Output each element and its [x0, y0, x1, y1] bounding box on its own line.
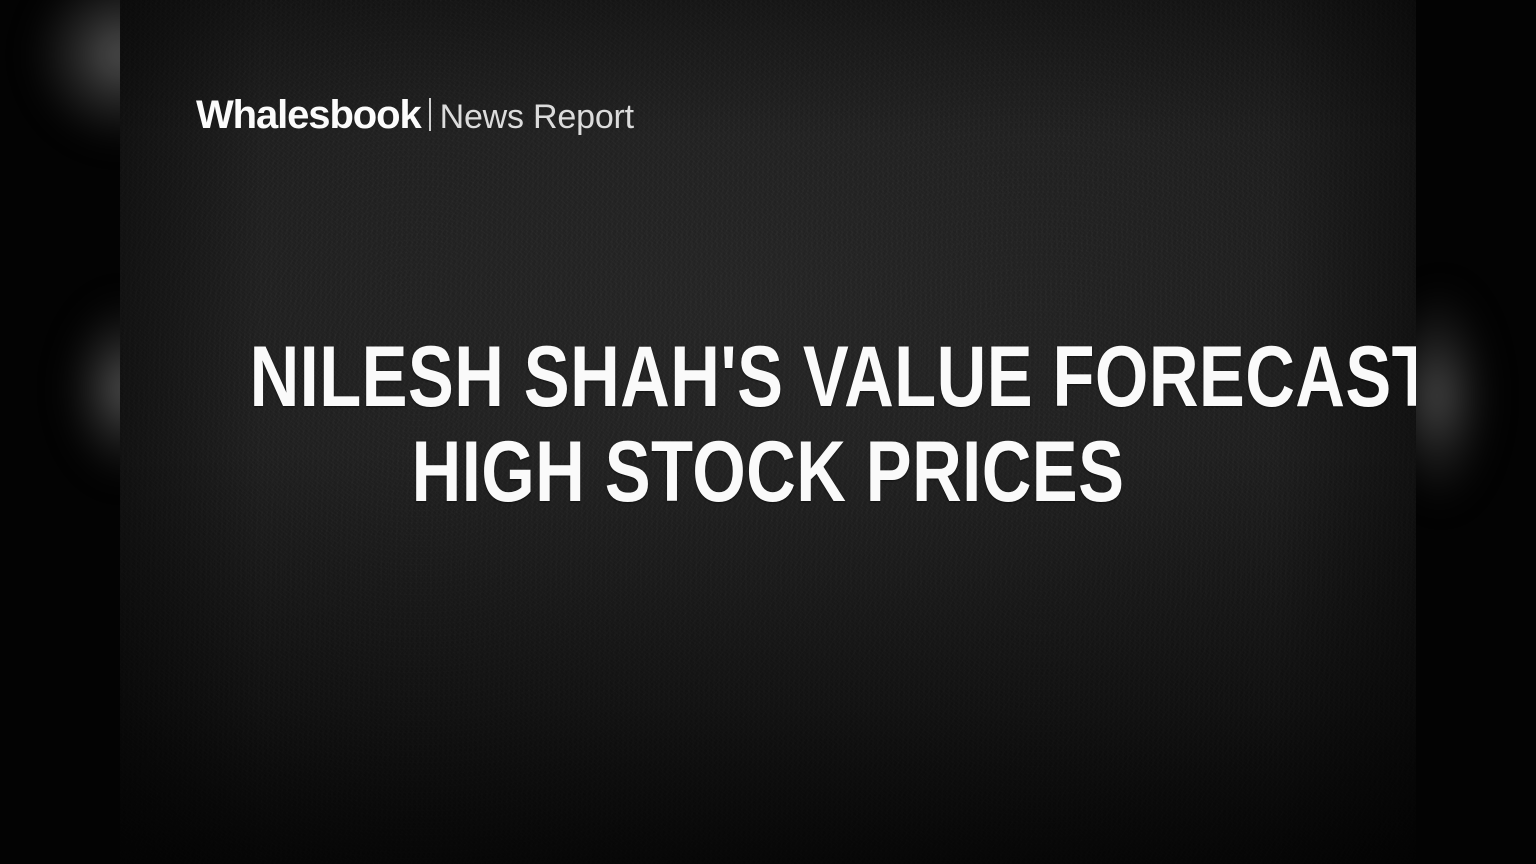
brand-masthead[interactable]: Whalesbook News Report — [196, 93, 634, 138]
headline-line-2: HIGH STOCK PRICES — [250, 425, 1287, 520]
brand-suffix-label: News Report — [440, 98, 634, 137]
brand-name: Whalesbook — [196, 93, 421, 138]
brand-divider — [429, 98, 431, 131]
headline: NILESH SHAH'S VALUE FORECAST FACES HIGH … — [120, 330, 1416, 520]
headline-line-1: NILESH SHAH'S VALUE FORECAST FACES — [250, 330, 1287, 425]
news-card-canvas: Whalesbook News Report NILESH SHAH'S VAL… — [0, 0, 1536, 864]
content-panel: Whalesbook News Report NILESH SHAH'S VAL… — [120, 0, 1416, 864]
